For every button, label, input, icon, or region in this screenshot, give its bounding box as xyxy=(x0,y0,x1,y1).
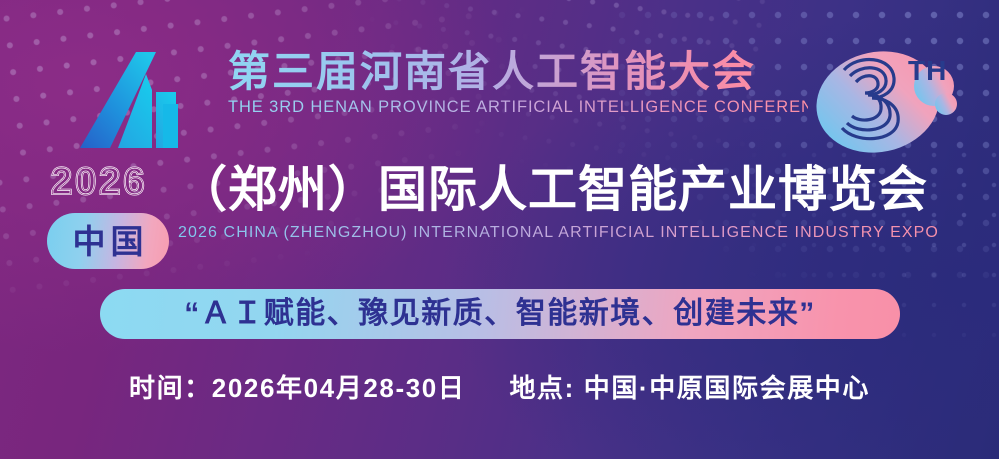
expo-title-en: 2026 CHINA (ZHENGZHOU) INTERNATIONAL ART… xyxy=(178,224,988,242)
ai-logo-icon xyxy=(64,46,204,152)
conference-title-en: THE 3RD HENAN PROVINCE ARTIFICIAL INTELL… xyxy=(228,98,808,117)
year-number-wrap: 2026 2026 xyxy=(45,165,170,209)
conference-header-row: 第三届河南省人工智能大会 THE 3RD HENAN PROVINCE ARTI… xyxy=(0,38,999,156)
year-number-inner-stroke: 2026 xyxy=(51,163,148,201)
conference-title-cn: 第三届河南省人工智能大会 xyxy=(228,48,808,95)
country-label: 中国 xyxy=(68,225,149,258)
svg-text:TH: TH xyxy=(908,55,947,86)
event-venue: 地点: 中国·中原国际会展中心 xyxy=(509,368,870,405)
slogan-pill: “ＡＩ赋能、豫见新质、智能新境、创建未来” xyxy=(100,289,900,339)
year-country-badge: 2026 2026 中国 xyxy=(45,165,170,273)
country-pill: 中国 xyxy=(47,213,169,269)
conference-banner: 第三届河南省人工智能大会 THE 3RD HENAN PROVINCE ARTI… xyxy=(0,0,999,459)
edition-badge-3th: TH xyxy=(812,40,962,156)
slogan-text: “ＡＩ赋能、豫见新质、智能新境、创建未来” xyxy=(184,299,816,329)
conference-title-block: 第三届河南省人工智能大会 THE 3RD HENAN PROVINCE ARTI… xyxy=(228,48,808,117)
expo-title-row: 2026 2026 中国 （郑州）国际人工智能产业博览会 2026 CHINA … xyxy=(0,163,999,275)
expo-title-cn: （郑州）国际人工智能产业博览会 xyxy=(178,163,988,219)
event-date: 时间：2026年04月28-30日 xyxy=(129,368,465,405)
event-info-row: 时间：2026年04月28-30日 地点: 中国·中原国际会展中心 xyxy=(0,368,999,405)
expo-title-block: （郑州）国际人工智能产业博览会 2026 CHINA (ZHENGZHOU) I… xyxy=(178,163,988,242)
